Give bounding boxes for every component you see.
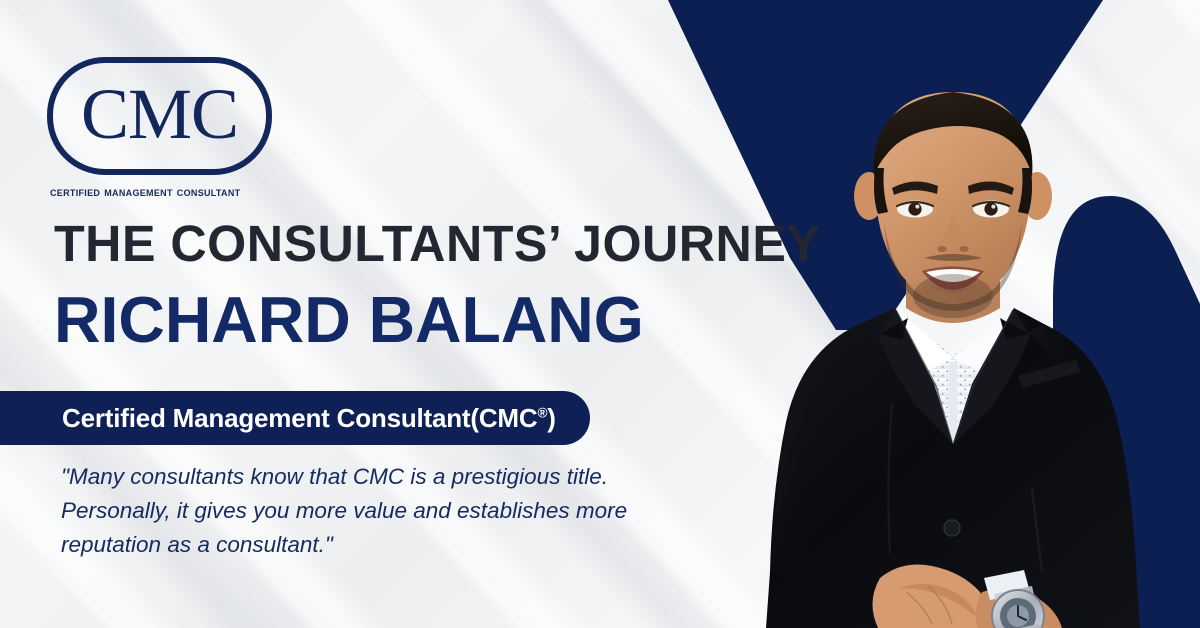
logo-outline-shape: CMC (47, 57, 272, 175)
registered-mark-icon: ® (537, 405, 547, 420)
navy-rounded-peak-shape (1053, 196, 1200, 628)
promo-banner: CMC Certified Management Consultant THE … (0, 0, 1200, 628)
logo-caption: Certified Management Consultant (50, 184, 287, 199)
cmc-logo: CMC Certified Management Consultant (47, 57, 287, 199)
logo-mark-text: CMC (81, 78, 238, 150)
testimonial-quote: "Many consultants know that CMC is a pre… (61, 460, 641, 563)
credential-prefix: Certified Management Consultant(CMC (62, 403, 537, 433)
person-name: RICHARD BALANG (54, 287, 644, 352)
series-title: THE CONSULTANTS’ JOURNEY (54, 218, 820, 269)
credential-banner: Certified Management Consultant(CMC®) (0, 391, 590, 445)
credential-text: Certified Management Consultant(CMC®) (62, 403, 556, 434)
credential-suffix: ) (547, 403, 555, 433)
navy-chevron-shape (668, 0, 1103, 330)
